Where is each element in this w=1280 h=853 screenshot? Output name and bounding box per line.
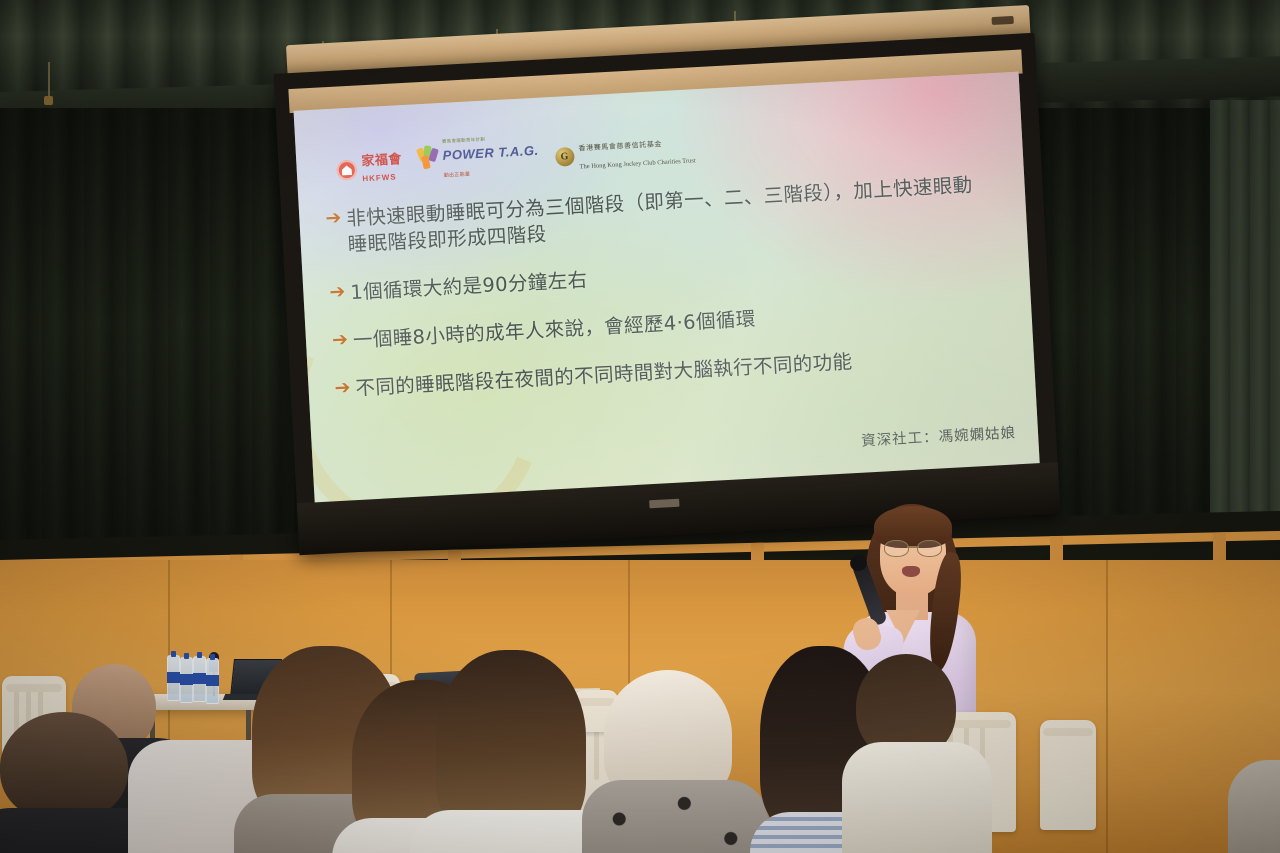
arrow-bullet-icon: ➔ <box>329 280 346 305</box>
chair <box>1040 720 1096 830</box>
water-bottle <box>193 656 206 702</box>
hkfws-mark-icon <box>336 160 357 181</box>
photo-scene: 家福會 HKFWS 賽馬會躍動青年計劃 POWER T.A.G. 動出正能量 <box>0 0 1280 853</box>
power-tag-tagline-bottom: 動出正能量 <box>444 171 471 178</box>
slide-bullet-item: ➔ 非快速眼動睡眠可分為三個階段（即第一、二、三階段），加上快速眼動睡眠階段即形… <box>325 172 987 259</box>
power-tag-logo: 賽馬會躍動青年計劃 POWER T.A.G. 動出正能量 <box>416 126 540 183</box>
wall-seam <box>1106 560 1108 853</box>
slide-bullet-item: ➔ 不同的睡眠階段在夜間的不同時間對大腦執行不同的功能 <box>334 341 994 403</box>
audience-shoulders <box>582 780 768 853</box>
hkfws-english-label: HKFWS <box>362 173 397 184</box>
hkjc-charities-trust-logo: G 香港賽馬會慈善信託基金 The Hong Kong Jockey Club … <box>554 131 696 175</box>
hkjc-chinese-label: 香港賽馬會慈善信託基金 <box>578 141 662 153</box>
glasses-icon <box>884 540 942 555</box>
water-bottle <box>180 657 193 703</box>
audience-shoulders <box>842 742 992 853</box>
slide-bullet-list: ➔ 非快速眼動睡眠可分為三個階段（即第一、二、三階段），加上快速眼動睡眠階段即形… <box>325 172 996 425</box>
arrow-bullet-icon: ➔ <box>331 328 348 353</box>
screen-brand-tag <box>649 499 679 509</box>
slide-surface: 家福會 HKFWS 賽馬會躍動青年計劃 POWER T.A.G. 動出正能量 <box>294 72 1040 505</box>
water-bottle <box>206 658 219 704</box>
slide-logo-row: 家福會 HKFWS 賽馬會躍動青年計劃 POWER T.A.G. 動出正能量 <box>335 117 696 187</box>
screen-housing-knob <box>991 16 1013 25</box>
arrow-bullet-icon: ➔ <box>325 207 342 232</box>
hkjc-crest-icon: G <box>554 146 574 166</box>
stage-curtain-right <box>1210 100 1280 580</box>
hkfws-chinese-label: 家福會 <box>361 152 402 169</box>
projector-screen: 家福會 HKFWS 賽馬會躍動青年計劃 POWER T.A.G. 動出正能量 <box>272 5 1059 565</box>
slide-bullet-text: 非快速眼動睡眠可分為三個階段（即第一、二、三階段），加上快速眼動睡眠階段即形成四… <box>346 172 987 258</box>
power-tag-main-label: POWER T.A.G. <box>442 143 539 163</box>
slide-presenter-credit: 資深社工：馮婉嫻姑娘 <box>861 421 1017 450</box>
slide-bullet-text: 1個循環大約是90分鐘左右 <box>350 267 588 306</box>
slide-bullet-text: 不同的睡眠階段在夜間的不同時間對大腦執行不同的功能 <box>355 349 853 402</box>
slide-bullet-text: 一個睡8小時的成年人來說，會經歷4‧6個循環 <box>352 306 756 354</box>
audience-head <box>0 712 128 822</box>
hkjc-english-label: The Hong Kong Jockey Club Charities Trus… <box>579 157 695 170</box>
presenter-mouth <box>902 566 920 577</box>
power-tag-tagline-top: 賽馬會躍動青年計劃 <box>442 137 485 144</box>
water-bottle <box>167 655 180 701</box>
power-tag-burst-icon <box>417 145 440 168</box>
ceiling-lamp <box>44 96 53 105</box>
arrow-bullet-icon: ➔ <box>334 376 351 401</box>
presentation-slide: 家福會 HKFWS 賽馬會躍動青年計劃 POWER T.A.G. 動出正能量 <box>294 72 1040 505</box>
hkfws-logo: 家福會 HKFWS <box>336 152 403 187</box>
